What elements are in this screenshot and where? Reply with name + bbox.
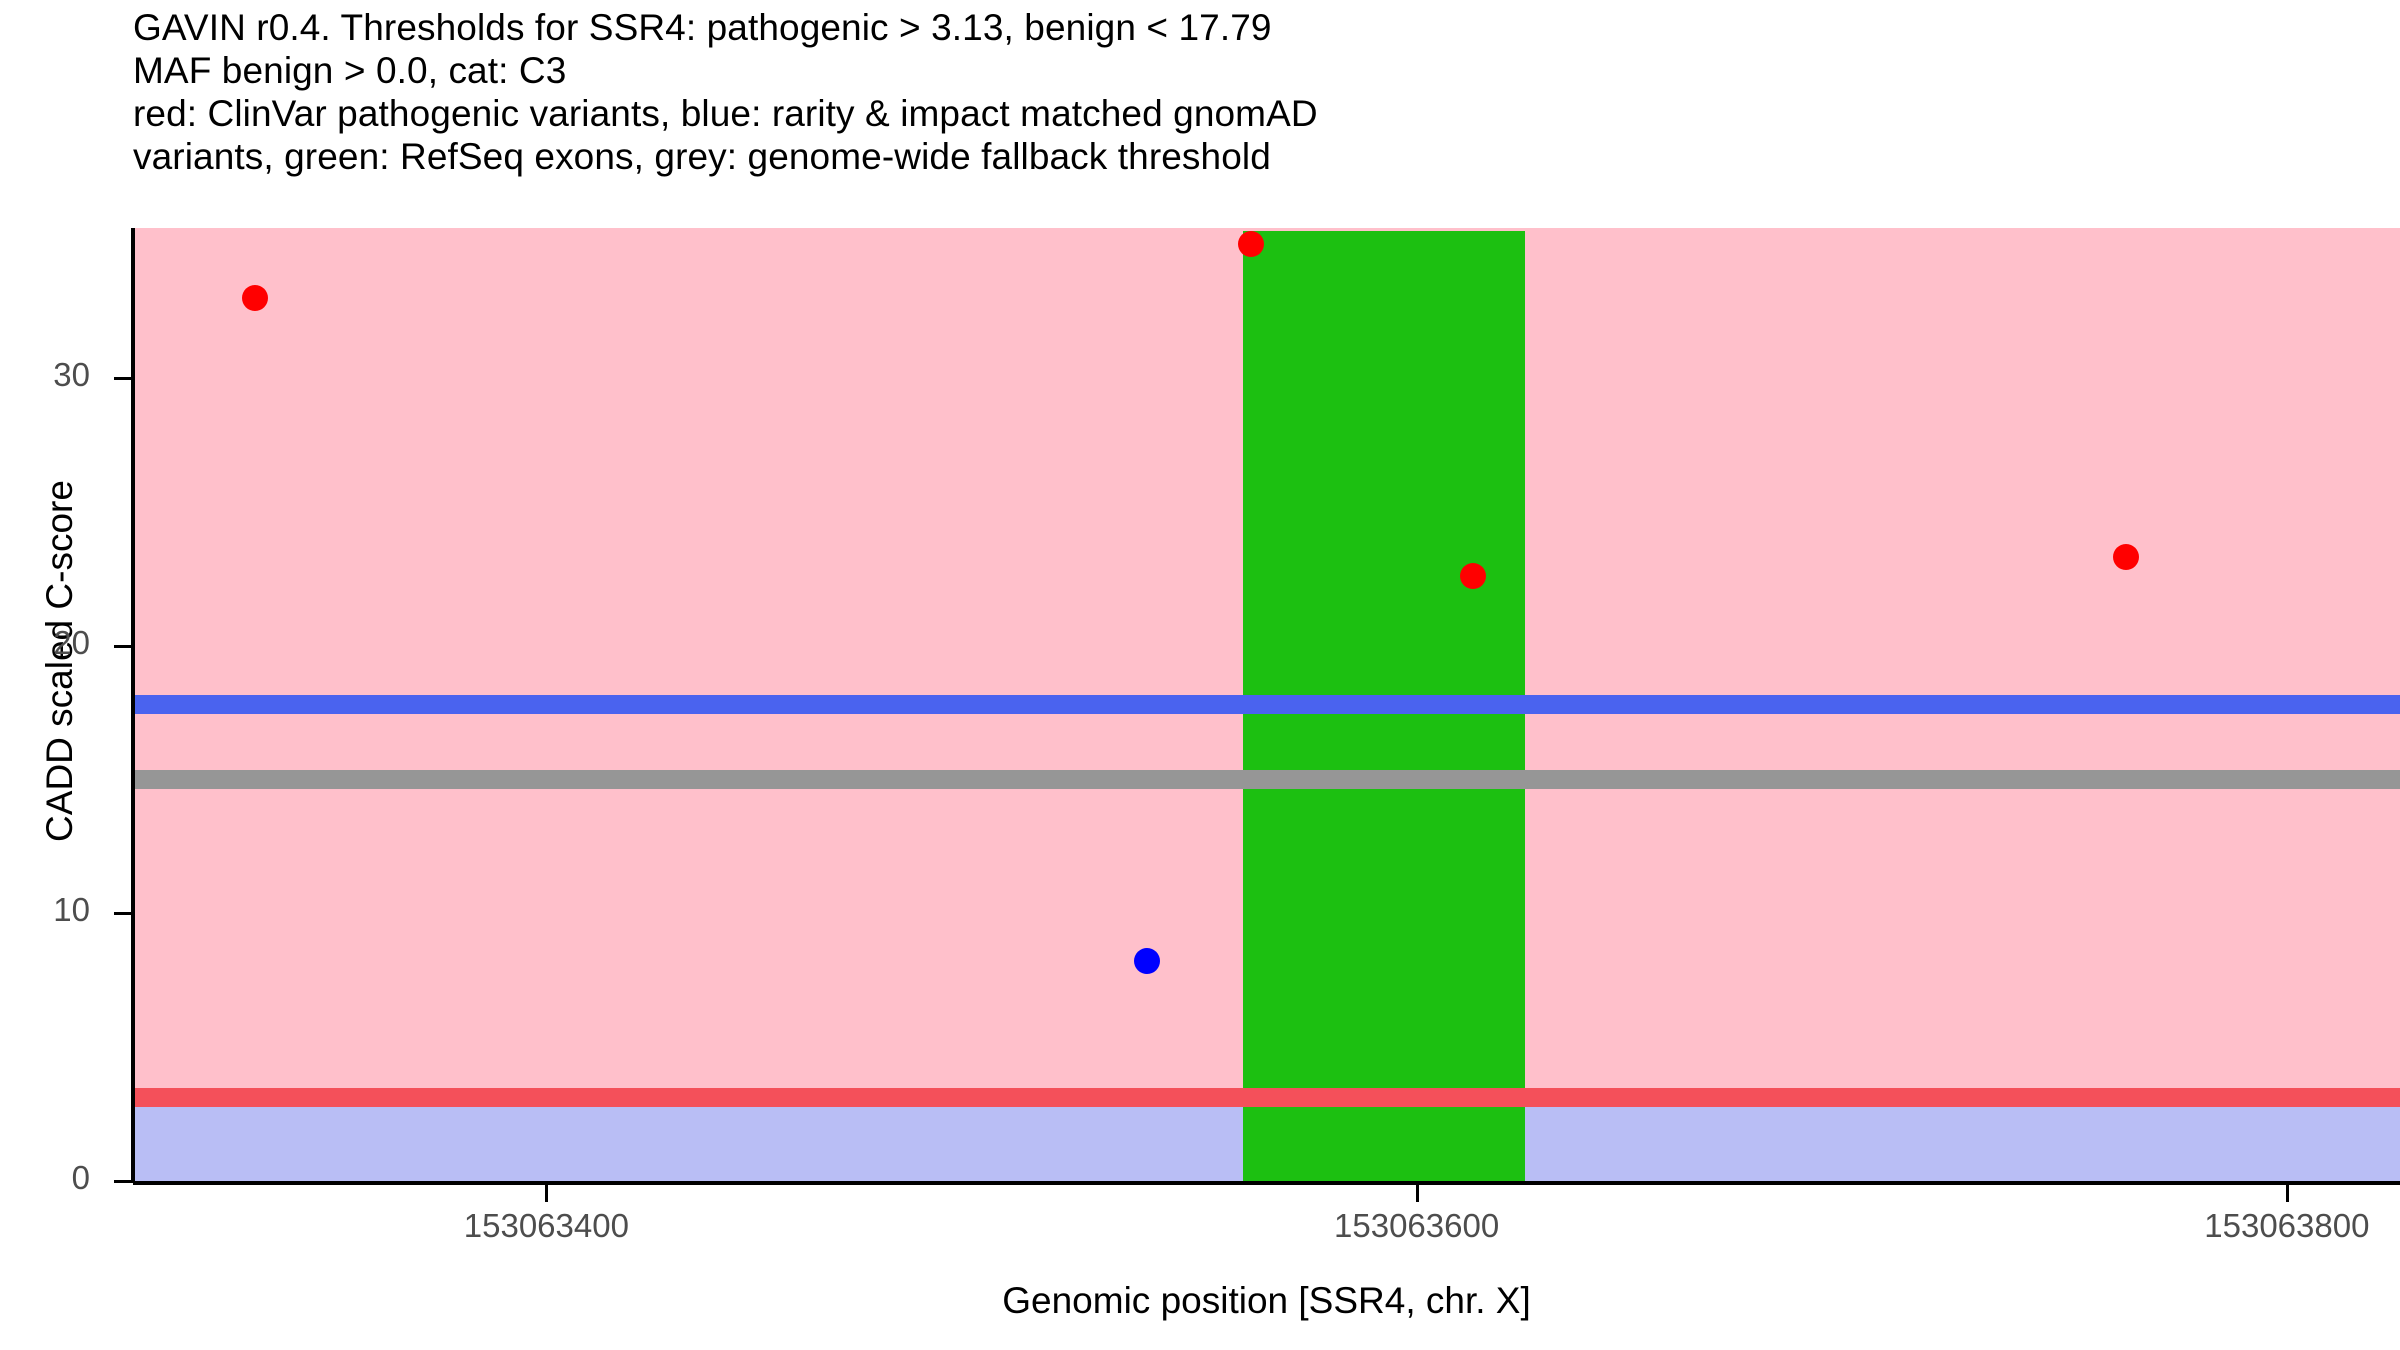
gnomad-variant-point[interactable] [1134, 948, 1160, 974]
x-tick-mark [1416, 1185, 1419, 1202]
genome-wide-fallback-line [133, 770, 2400, 789]
cadd-score-scatter-chart: CADD scaled C-score Genomic position [SS… [0, 0, 2400, 1350]
y-tick-mark [114, 1180, 132, 1183]
x-tick-label: 153063600 [1334, 1207, 1499, 1245]
y-tick-label: 0 [72, 1159, 90, 1197]
x-axis-line [133, 1181, 2400, 1185]
x-tick-label: 153063400 [464, 1207, 629, 1245]
x-axis-title: Genomic position [SSR4, chr. X] [133, 1280, 2400, 1322]
clinvar-pathogenic-point[interactable] [1238, 231, 1264, 257]
x-tick-mark [2286, 1185, 2289, 1202]
clinvar-pathogenic-point[interactable] [2113, 544, 2139, 570]
y-tick-label: 10 [53, 891, 90, 929]
y-tick-label: 20 [53, 624, 90, 662]
pathogenic-threshold-line [133, 1088, 2400, 1107]
y-tick-mark [114, 377, 132, 380]
clinvar-pathogenic-point[interactable] [242, 285, 268, 311]
clinvar-pathogenic-point[interactable] [1460, 563, 1486, 589]
benign-threshold-line [133, 695, 2400, 714]
y-tick-mark [114, 912, 132, 915]
y-axis-line [131, 228, 135, 1183]
x-tick-label: 153063800 [2204, 1207, 2369, 1245]
y-tick-mark [114, 645, 132, 648]
plot-panel [133, 228, 2400, 1181]
x-tick-mark [545, 1185, 548, 1202]
y-tick-label: 30 [53, 356, 90, 394]
